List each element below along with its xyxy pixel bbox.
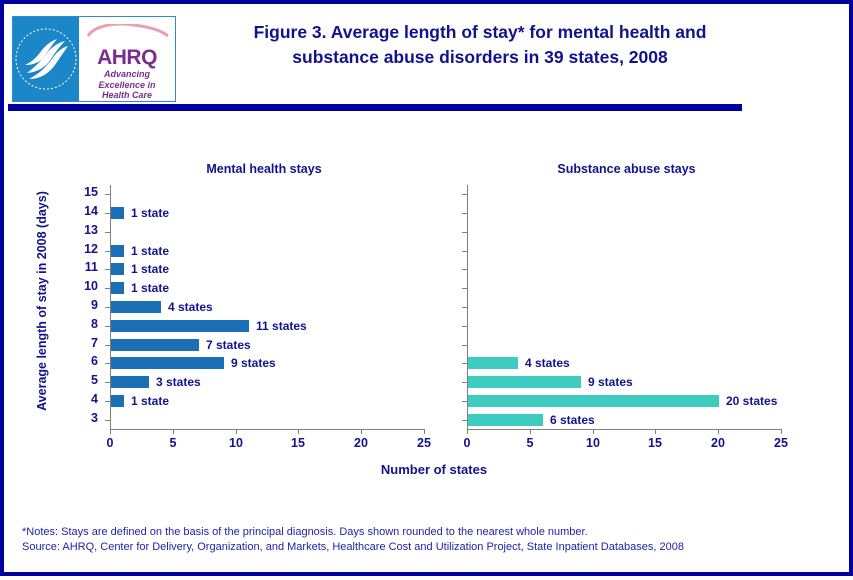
bar-value-label: 11 states xyxy=(256,320,307,332)
bar-value-label: 6 states xyxy=(550,414,595,426)
y-axis-tick xyxy=(462,269,467,270)
x-axis-tick xyxy=(781,429,782,434)
bar xyxy=(468,414,543,426)
x-axis-tick xyxy=(173,429,174,434)
y-axis-tick xyxy=(462,382,467,383)
x-axis-tick-label: 25 xyxy=(409,436,439,450)
bar-value-label: 20 states xyxy=(726,395,777,407)
x-axis-tick xyxy=(467,429,468,434)
footnote-source: Source: AHRQ, Center for Delivery, Organ… xyxy=(22,540,822,555)
bar xyxy=(468,376,581,388)
y-axis-tick-label: 5 xyxy=(76,373,98,387)
x-axis-tick xyxy=(655,429,656,434)
y-axis-tick xyxy=(105,251,110,252)
y-axis-label: Average length of stay in 2008 (days) xyxy=(35,191,49,411)
y-axis-tick-label: 6 xyxy=(76,354,98,368)
y-axis-tick-label: 7 xyxy=(76,336,98,350)
bar-value-label: 1 state xyxy=(131,245,169,257)
x-axis-tick xyxy=(593,429,594,434)
figure-footnotes: *Notes: Stays are defined on the basis o… xyxy=(22,525,822,555)
bar xyxy=(111,395,124,407)
bar xyxy=(468,395,719,407)
x-axis-tick xyxy=(361,429,362,434)
y-axis-tick xyxy=(105,307,110,308)
y-axis-tick xyxy=(462,213,467,214)
bar-value-label: 9 states xyxy=(588,376,633,388)
x-axis-tick-label: 25 xyxy=(766,436,796,450)
x-axis-tick xyxy=(236,429,237,434)
bar xyxy=(111,320,249,332)
x-axis-tick xyxy=(718,429,719,434)
x-axis-line xyxy=(467,429,782,430)
bar xyxy=(111,245,124,257)
bar-value-label: 4 states xyxy=(168,301,213,313)
bar xyxy=(111,263,124,275)
bar-value-label: 7 states xyxy=(206,339,251,351)
x-axis-tick-label: 0 xyxy=(95,436,125,450)
figure-page: AHRQ Advancing Excellence in Health Care… xyxy=(0,0,853,576)
bar xyxy=(111,376,149,388)
y-axis-tick xyxy=(462,420,467,421)
x-axis-tick-label: 20 xyxy=(346,436,376,450)
x-axis-tick-label: 0 xyxy=(452,436,482,450)
charts-container: Mental health stays Substance abuse stay… xyxy=(4,4,853,580)
y-axis-line xyxy=(467,185,468,430)
y-axis-tick-label: 13 xyxy=(76,223,98,237)
bar-value-label: 3 states xyxy=(156,376,201,388)
y-axis-tick xyxy=(105,194,110,195)
bar xyxy=(468,357,518,369)
y-axis-tick xyxy=(462,401,467,402)
y-axis-tick-label: 14 xyxy=(76,204,98,218)
bar xyxy=(111,301,161,313)
y-axis-tick xyxy=(462,363,467,364)
x-axis-tick xyxy=(424,429,425,434)
x-axis-tick xyxy=(110,429,111,434)
y-axis-tick xyxy=(105,213,110,214)
y-axis-tick-label: 10 xyxy=(76,279,98,293)
y-axis-tick xyxy=(462,251,467,252)
bar-value-label: 4 states xyxy=(525,357,570,369)
y-axis-tick xyxy=(462,194,467,195)
x-axis-tick-label: 10 xyxy=(578,436,608,450)
y-axis-tick xyxy=(105,382,110,383)
x-axis-tick xyxy=(298,429,299,434)
y-axis-tick-label: 15 xyxy=(76,185,98,199)
y-axis-tick xyxy=(462,232,467,233)
bar-value-label: 1 state xyxy=(131,282,169,294)
y-axis-tick-label: 11 xyxy=(76,260,98,274)
y-axis-tick-label: 9 xyxy=(76,298,98,312)
x-axis-tick-label: 10 xyxy=(221,436,251,450)
y-axis-tick xyxy=(105,420,110,421)
x-axis-tick-label: 15 xyxy=(640,436,670,450)
y-axis-tick xyxy=(105,345,110,346)
x-axis-line xyxy=(110,429,425,430)
y-axis-tick xyxy=(462,345,467,346)
y-axis-tick xyxy=(105,401,110,402)
x-axis-tick xyxy=(530,429,531,434)
bar xyxy=(111,207,124,219)
bar xyxy=(111,339,199,351)
y-axis-tick xyxy=(462,326,467,327)
y-axis-tick-label: 8 xyxy=(76,317,98,331)
y-axis-tick xyxy=(105,326,110,327)
y-axis-tick-label: 12 xyxy=(76,242,98,256)
y-axis-tick xyxy=(462,307,467,308)
bar xyxy=(111,282,124,294)
y-axis-tick xyxy=(105,363,110,364)
bar-value-label: 1 state xyxy=(131,395,169,407)
y-axis-tick xyxy=(462,288,467,289)
x-axis-tick-label: 20 xyxy=(703,436,733,450)
x-axis-tick-label: 5 xyxy=(515,436,545,450)
chart-title-mental-health: Mental health stays xyxy=(99,162,429,176)
x-axis-label: Number of states xyxy=(264,462,604,477)
y-axis-tick-label: 4 xyxy=(76,392,98,406)
footnote-notes: *Notes: Stays are defined on the basis o… xyxy=(22,525,822,540)
y-axis-tick-label: 3 xyxy=(76,411,98,425)
x-axis-tick-label: 5 xyxy=(158,436,188,450)
bar-value-label: 9 states xyxy=(231,357,276,369)
y-axis-tick xyxy=(105,288,110,289)
y-axis-tick xyxy=(105,269,110,270)
chart-title-substance-abuse: Substance abuse stays xyxy=(469,162,784,176)
bar-value-label: 1 state xyxy=(131,207,169,219)
x-axis-tick-label: 15 xyxy=(283,436,313,450)
bar-value-label: 1 state xyxy=(131,263,169,275)
bar xyxy=(111,357,224,369)
y-axis-tick xyxy=(105,232,110,233)
